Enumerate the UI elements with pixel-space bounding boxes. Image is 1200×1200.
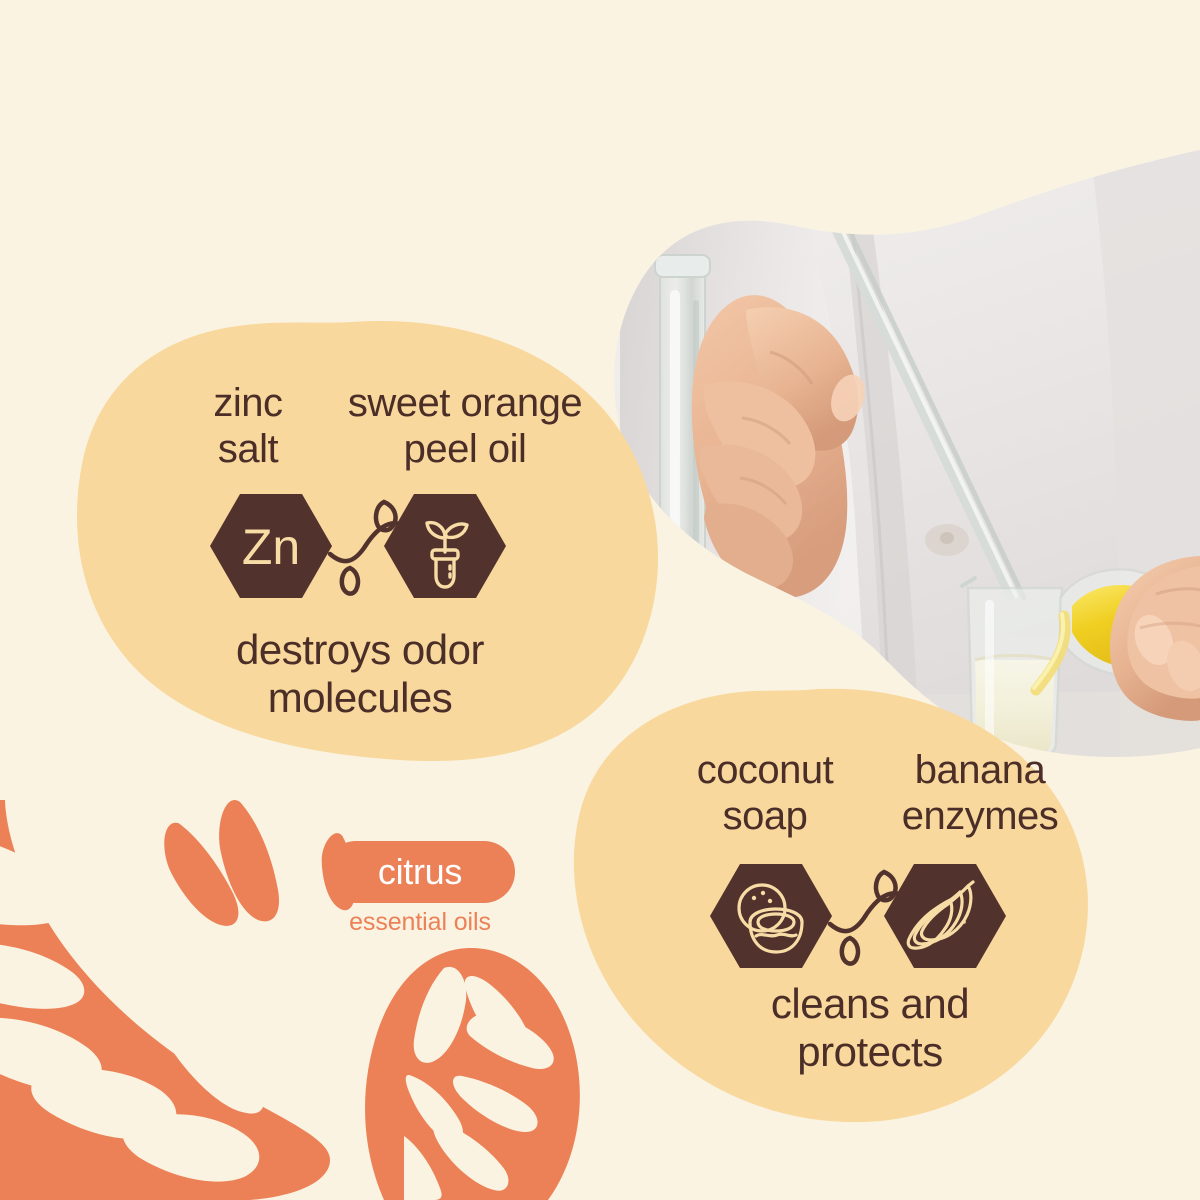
citrus-badge[interactable]: citrus [325, 841, 515, 903]
clean-card-benefit-text: cleans and protects [650, 980, 1090, 1076]
bananas-icon [884, 864, 1006, 968]
citrus-badge-label: citrus [378, 854, 462, 890]
essential-oils-caption: essential oils [325, 908, 515, 937]
clean-card-right-ingredient-label: banana enzymes [870, 748, 1090, 839]
infographic-canvas: zinc salt sweet orange peel oil Zn [0, 0, 1200, 1200]
clean-card-left-ingredient-label: coconut soap [650, 748, 880, 839]
coconut-icon [710, 864, 832, 968]
clean-card-hex-row [678, 852, 1038, 980]
